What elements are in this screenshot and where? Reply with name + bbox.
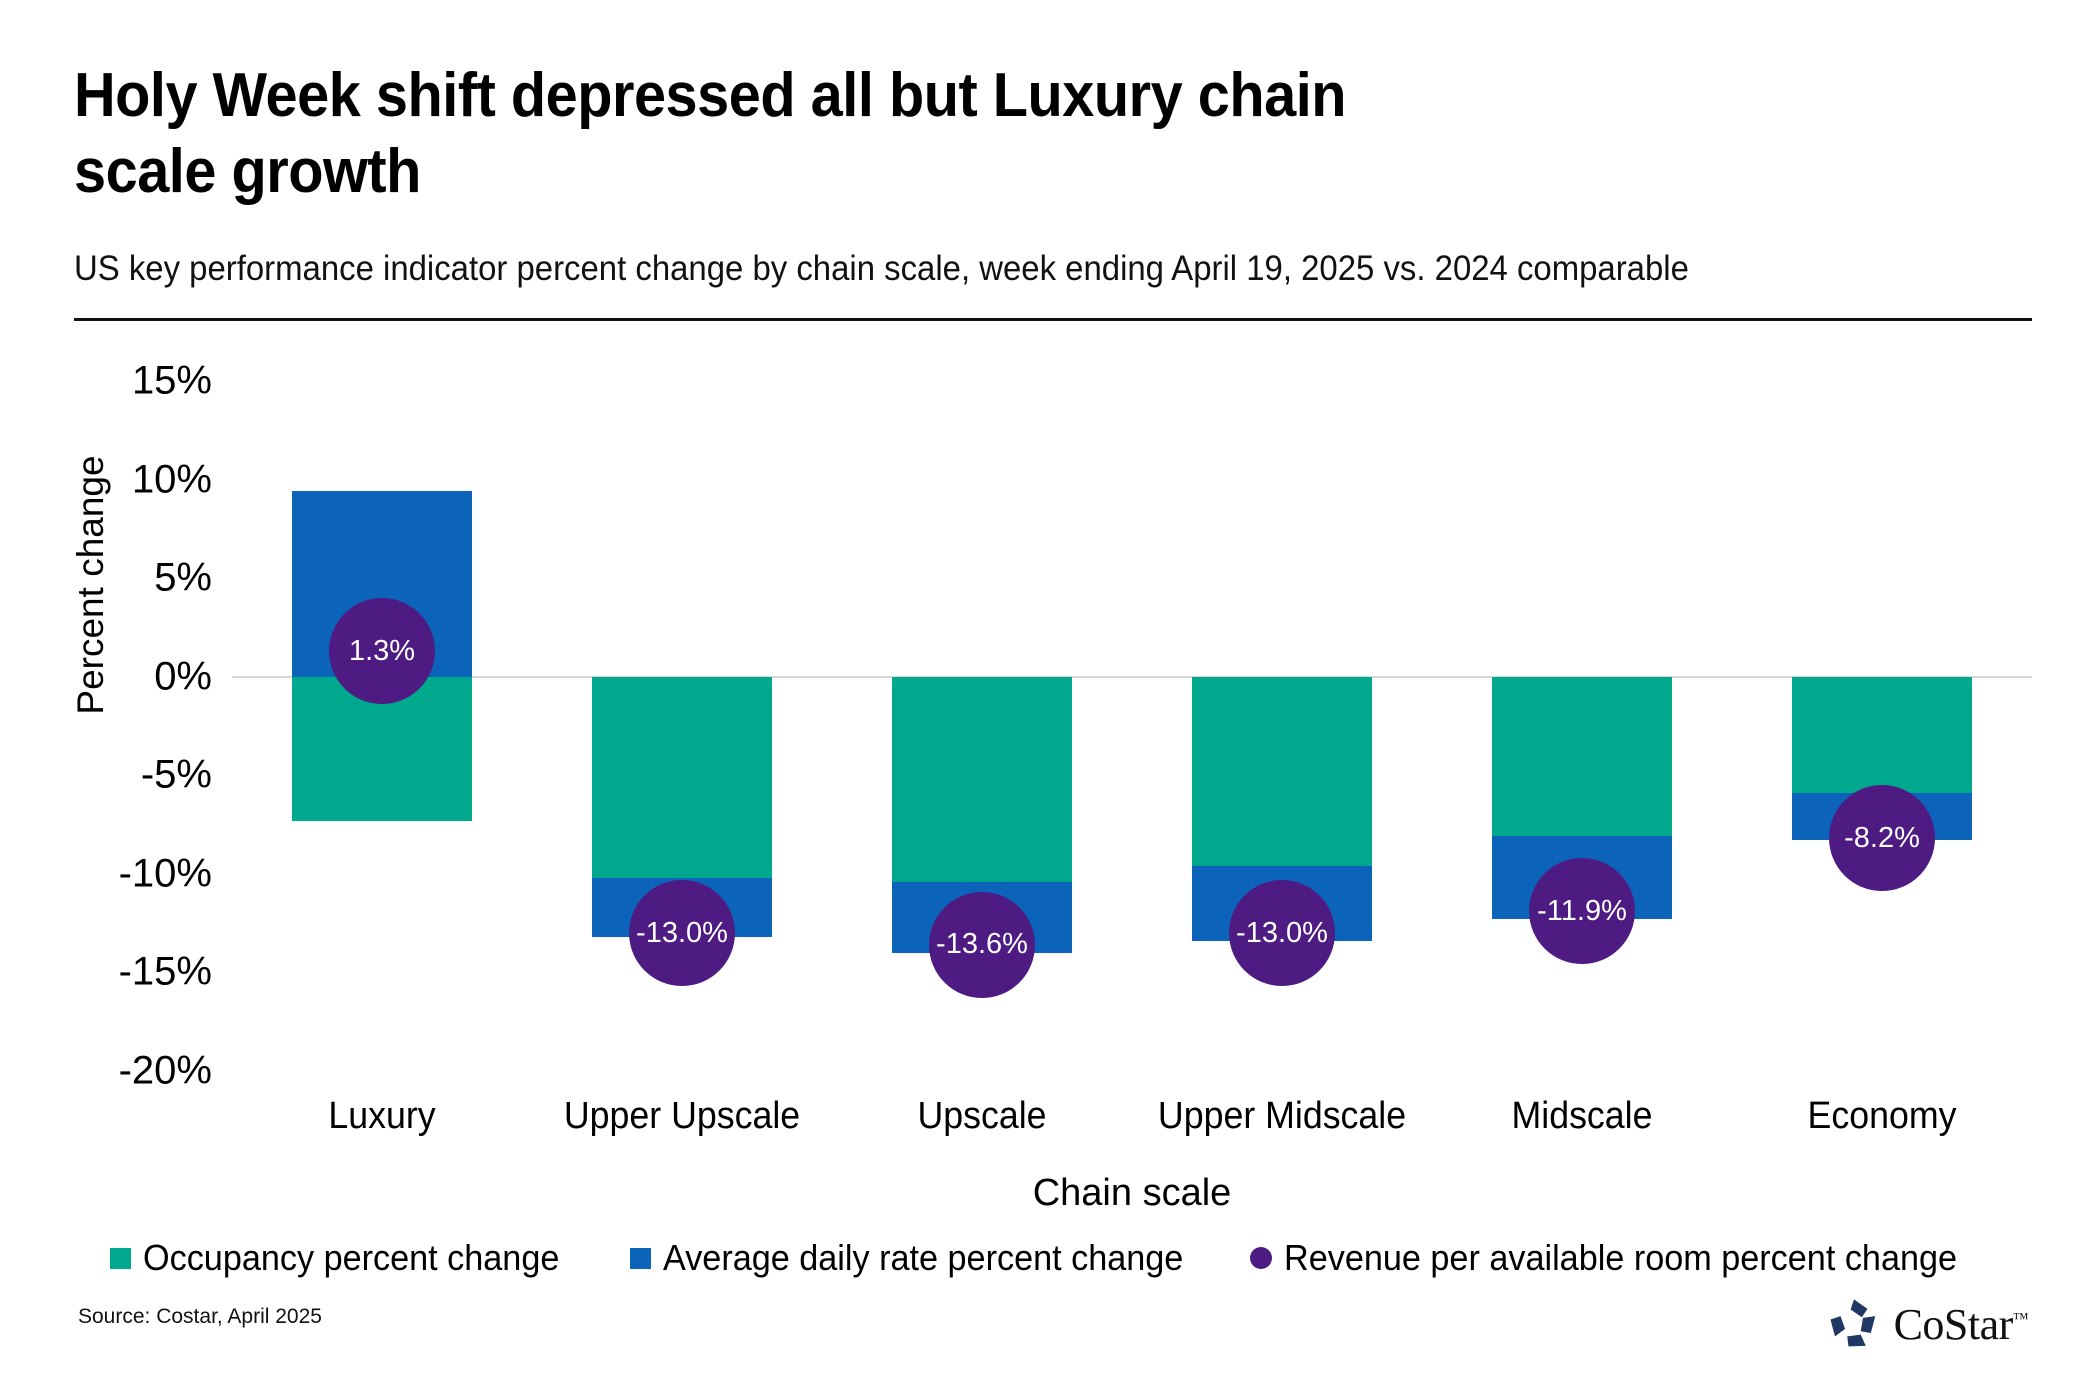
zero-baseline — [232, 676, 2032, 678]
bar-segment-occupancy[interactable] — [592, 677, 772, 878]
page-title: Holy Week shift depressed all but Luxury… — [74, 58, 1655, 210]
x-axis-tick-label: Midscale — [1441, 1095, 1723, 1138]
legend-item-label: Average daily rate percent change — [663, 1237, 1183, 1279]
costar-wordmark: CoStar — [1894, 1300, 2013, 1349]
x-axis-tick-label: Upper Midscale — [1141, 1095, 1423, 1138]
source-note: Source: Costar, April 2025 — [78, 1305, 322, 1329]
legend-item[interactable]: Average daily rate percent change — [630, 1237, 1211, 1279]
chart-page: Holy Week shift depressed all but Luxury… — [0, 0, 2100, 1400]
revpar-bubble[interactable]: -13.0% — [1229, 880, 1335, 986]
header-divider — [74, 318, 2032, 321]
y-axis-tick-label: 15% — [72, 359, 212, 404]
costar-logo-mark — [1826, 1296, 1882, 1352]
revpar-bubble[interactable]: -8.2% — [1829, 785, 1935, 891]
x-axis-tick-label: Upscale — [841, 1095, 1123, 1138]
revpar-bubble[interactable]: -13.6% — [929, 892, 1035, 998]
trademark-symbol: ™ — [2013, 1310, 2028, 1327]
y-axis-tick-label: -15% — [72, 950, 212, 995]
y-axis-tick-label: -5% — [72, 753, 212, 798]
bar-group[interactable] — [292, 381, 472, 1071]
y-axis-tick-label: -10% — [72, 851, 212, 896]
legend-item-label: Occupancy percent change — [143, 1237, 559, 1279]
bar-segment-occupancy[interactable] — [1492, 677, 1672, 837]
costar-logo-text: CoStar™ — [1894, 1299, 2028, 1350]
costar-logo: CoStar™ — [1826, 1295, 2028, 1353]
x-axis-title: Chain scale — [232, 1172, 2032, 1215]
page-subtitle: US key performance indicator percent cha… — [74, 247, 1916, 291]
legend-circle-icon — [1250, 1247, 1272, 1269]
bar-segment-occupancy[interactable] — [1192, 677, 1372, 866]
x-axis-tick-label: Economy — [1741, 1095, 2023, 1138]
legend-item[interactable]: Occupancy percent change — [110, 1237, 581, 1279]
bar-group[interactable] — [1792, 381, 1972, 1071]
legend-square-icon — [630, 1248, 651, 1269]
legend-item-label: Revenue per available room percent chang… — [1284, 1237, 1957, 1279]
chart-legend: Occupancy percent changeAverage daily ra… — [110, 1237, 2010, 1283]
revpar-bubble[interactable]: -11.9% — [1529, 858, 1635, 964]
revpar-bubble[interactable]: -13.0% — [629, 880, 735, 986]
plot-area: 1.3%-13.0%-13.6%-13.0%-11.9%-8.2% — [232, 381, 2032, 1071]
revpar-bubble[interactable]: 1.3% — [329, 598, 435, 704]
legend-item[interactable]: Revenue per available room percent chang… — [1250, 1237, 1992, 1279]
bar-group[interactable] — [1492, 381, 1672, 1071]
y-axis-tick-label: -20% — [72, 1049, 212, 1094]
bar-segment-occupancy[interactable] — [1792, 677, 1972, 793]
legend-square-icon — [110, 1248, 131, 1269]
bar-segment-occupancy[interactable] — [892, 677, 1072, 882]
y-axis-title: Percent change — [70, 420, 112, 750]
x-axis-tick-label: Luxury — [241, 1095, 523, 1138]
x-axis-tick-label: Upper Upscale — [541, 1095, 823, 1138]
